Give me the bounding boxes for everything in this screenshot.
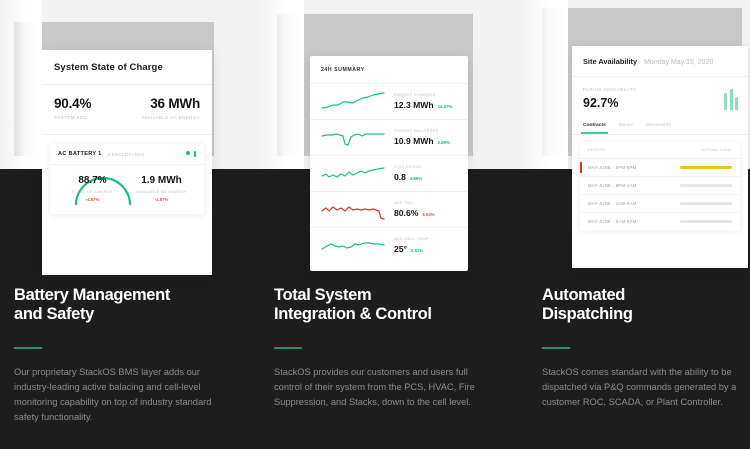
table-row[interactable]: MAY-JUNE - 5PM-8PM <box>580 159 740 177</box>
summary-meta: AVG SOC 80.6% 6.94% <box>394 201 458 218</box>
feature-description: StackOS provides our customers and users… <box>274 365 479 410</box>
summary-value: 0.8 <box>394 172 406 182</box>
cell-period: MAY-JUNE - 5PM-8PM <box>588 165 636 170</box>
status-bar-icon <box>194 151 197 157</box>
summary-meta: ENERGY CHARGED 12.3 MWh 14.57% <box>394 93 458 110</box>
summary-value: 80.6% <box>394 208 418 218</box>
feature-description: StackOS comes standard with the ability … <box>542 365 742 410</box>
summary-row: CYCLES/DAY 0.8 3.89% <box>310 156 468 192</box>
battery-name: AC BATTERY 1 <box>58 151 102 157</box>
stat-value: 90.4% <box>54 96 127 111</box>
tab-contracts[interactable]: Contracts <box>583 119 606 134</box>
summary-value-line: 10.9 MWh 2.89% <box>394 136 458 146</box>
column-header-actual-avail: ACTUAL AVAIL <box>701 148 732 152</box>
page-title: Total System Integration & Control <box>274 286 479 324</box>
stat-value: 36 MWh <box>127 96 200 111</box>
summary-change: 14.57% <box>438 104 453 109</box>
summary-meta: AVG CELL TEMP 25° 0.81% <box>394 237 458 254</box>
sparkline-cycles-per-day-icon <box>320 163 386 184</box>
summary-row: AVG CELL TEMP 25° 0.81% <box>310 228 468 263</box>
summary-24h-card: 24H SUMMARY ENERGY CHARGED 12.3 MWh 14.5… <box>310 56 468 271</box>
table-row[interactable]: MAY-JUNE - 8AM-5PM <box>580 213 740 230</box>
stat-available-ac-energy: 36 MWh AVAILABLE AC ENERGY <box>127 96 200 120</box>
ac-battery-header: AC BATTERY 1 3 ENCLOSURES <box>50 144 204 165</box>
metric-available-ac-energy: 1.9 MWh AVAILABLE AC ENERGY -4.57% <box>127 175 196 202</box>
feature-copy: Total System Integration & Control Stack… <box>274 286 479 410</box>
status-indicators <box>186 151 197 157</box>
row-flag-icon <box>580 216 582 227</box>
summary-value-line: 12.3 MWh 14.57% <box>394 100 458 110</box>
table-header-row: PERIOD ACTUAL AVAIL <box>580 142 740 159</box>
heading-line-2: Dispatching <box>542 305 633 323</box>
ac-battery-panel[interactable]: AC BATTERY 1 3 ENCLOSURES 88.7% STATE OF… <box>50 144 204 214</box>
divider <box>274 347 302 349</box>
availability-mini-bars-icon <box>724 89 738 110</box>
summary-change: 3.89% <box>410 176 422 181</box>
feature-description: Our proprietary StackOS BMS layer adds o… <box>14 365 219 425</box>
metric-label: AVAILABLE AC ENERGY <box>127 189 196 194</box>
page-title: Automated Dispatching <box>542 286 742 324</box>
stat-system-soc: 90.4% SYSTEM SOC <box>54 96 127 120</box>
system-state-of-charge-card: System State of Charge 90.4% SYSTEM SOC … <box>42 50 212 275</box>
cell-actual-avail-bar <box>680 184 732 187</box>
period-availability-block: PERIOD AVAILABILITY 92.7% <box>572 77 748 119</box>
heading-line-2: and Safety <box>14 305 94 323</box>
heading-line-2: Integration & Control <box>274 305 432 323</box>
summary-meta: CYCLES/DAY 0.8 3.89% <box>394 165 458 182</box>
divider <box>542 347 570 349</box>
cell-period: MAY-JUNE - 8PM-1AM <box>588 183 636 188</box>
table-row[interactable]: MAY-JUNE - 1AM-8AM <box>580 195 740 213</box>
battery-enclosures: 3 ENCLOSURES <box>108 152 145 157</box>
heading-line-1: Total System <box>274 286 371 304</box>
summary-label: CYCLES/DAY <box>394 165 458 169</box>
heading-line-1: Automated <box>542 286 625 304</box>
cell-period: MAY-JUNE - 8AM-5PM <box>588 219 636 224</box>
summary-change: 0.81% <box>411 248 423 253</box>
card-title: Site Availability <box>583 57 637 66</box>
column-header-period: PERIOD <box>588 148 605 152</box>
summary-label: ENERGY CHARGED <box>394 93 458 97</box>
row-flag-icon <box>580 180 582 191</box>
metric-delta: -4.57% <box>58 197 127 202</box>
soc-stats-row: 90.4% SYSTEM SOC 36 MWh AVAILABLE AC ENE… <box>42 85 212 135</box>
metric-state-of-charge: 88.7% STATE OF CHARGE -4.57% <box>58 175 127 202</box>
summary-value: 12.3 MWh <box>394 100 434 110</box>
feature-column-total-system-integration: 24H SUMMARY ENERGY CHARGED 12.3 MWh 14.5… <box>256 0 506 449</box>
availability-value: 92.7% <box>583 96 737 110</box>
row-flag-icon <box>580 198 582 209</box>
sparkline-energy-charged-icon <box>320 91 386 112</box>
sparkline-energy-delivered-icon <box>320 127 386 148</box>
tab-issues[interactable]: Issues <box>619 119 633 134</box>
card-title: System State of Charge <box>42 50 212 85</box>
summary-row: AVG SOC 80.6% 6.94% <box>310 192 468 228</box>
row-flag-icon <box>580 162 582 173</box>
card-date: Monday May 15, 2020 <box>644 59 713 66</box>
summary-label: ENERGY DELIVERED <box>394 129 458 133</box>
summary-change: 6.94% <box>422 212 434 217</box>
feature-copy: Battery Management and Safety Our propri… <box>14 286 219 425</box>
card-header: Site Availability Monday May 15, 2020 <box>572 46 748 77</box>
summary-value-line: 25° 0.81% <box>394 244 458 254</box>
feature-column-battery-management: System State of Charge 90.4% SYSTEM SOC … <box>0 0 250 449</box>
summary-row: ENERGY DELIVERED 10.9 MWh 2.89% <box>310 120 468 156</box>
cell-period: MAY-JUNE - 1AM-8AM <box>588 201 636 206</box>
stat-label: SYSTEM SOC <box>54 115 127 120</box>
stat-label: AVAILABLE AC ENERGY <box>127 115 200 120</box>
card-tabs[interactable]: Contracts Issues Documents <box>572 119 748 135</box>
summary-row: ENERGY CHARGED 12.3 MWh 14.57% <box>310 84 468 120</box>
table-row[interactable]: MAY-JUNE - 8PM-1AM <box>580 177 740 195</box>
sparkline-avg-cell-temp-icon <box>320 235 386 256</box>
cell-actual-avail-bar <box>680 202 732 205</box>
cell-actual-avail-bar <box>680 166 732 169</box>
ac-battery-metrics: 88.7% STATE OF CHARGE -4.57% 1.9 MWh AVA… <box>50 165 204 214</box>
summary-value-line: 0.8 3.89% <box>394 172 458 182</box>
site-availability-card: Site Availability Monday May 15, 2020 PE… <box>572 46 748 268</box>
summary-label: AVG SOC <box>394 201 458 205</box>
heading-line-1: Battery Management <box>14 286 170 304</box>
summary-change: 2.89% <box>438 140 450 145</box>
summary-meta: ENERGY DELIVERED 10.9 MWh 2.89% <box>394 129 458 146</box>
card-title: 24H SUMMARY <box>310 56 468 84</box>
page-title: Battery Management and Safety <box>14 286 219 324</box>
status-dot-icon <box>186 151 190 155</box>
metric-delta: -4.57% <box>127 197 196 202</box>
contracts-table: PERIOD ACTUAL AVAIL MAY-JUNE - 5PM-8PM M… <box>580 142 740 230</box>
metric-value: 1.9 MWh <box>127 175 196 186</box>
feature-column-automated-dispatching: Site Availability Monday May 15, 2020 PE… <box>518 0 750 449</box>
feature-copy: Automated Dispatching StackOS comes stan… <box>542 286 742 410</box>
tab-documents[interactable]: Documents <box>646 119 671 134</box>
sparkline-avg-soc-icon <box>320 199 386 220</box>
summary-value: 25° <box>394 244 407 254</box>
metric-label: STATE OF CHARGE <box>58 189 127 194</box>
metric-value: 88.7% <box>58 175 127 186</box>
cell-actual-avail-bar <box>680 220 732 223</box>
summary-value-line: 80.6% 6.94% <box>394 208 458 218</box>
availability-label: PERIOD AVAILABILITY <box>583 87 737 92</box>
divider <box>14 347 42 349</box>
summary-value: 10.9 MWh <box>394 136 434 146</box>
summary-label: AVG CELL TEMP <box>394 237 458 241</box>
